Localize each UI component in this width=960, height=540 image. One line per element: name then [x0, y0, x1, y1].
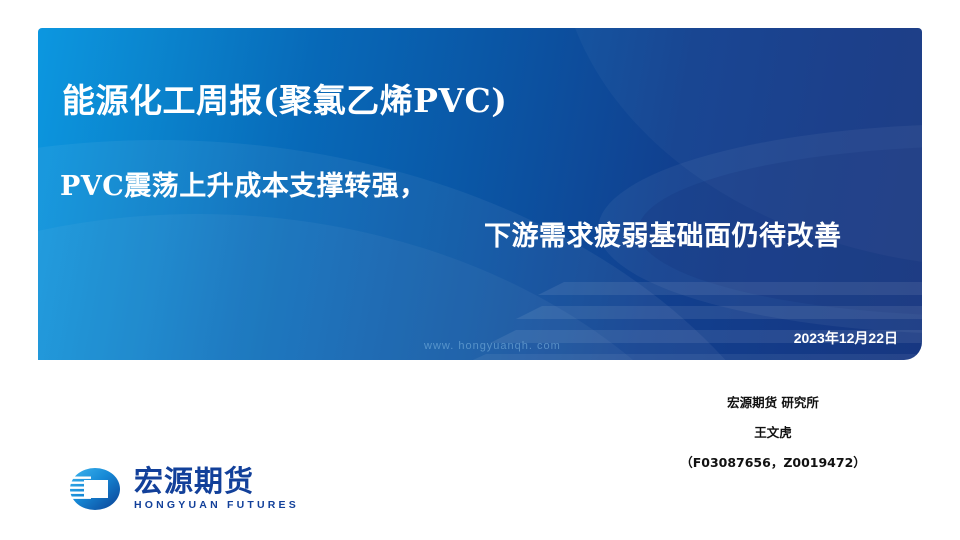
logo-name-en: HONGYUAN FUTURES [134, 499, 299, 511]
credits-block: 宏源期货 研究所 王文虎 （F03087656，Z0019472） [638, 388, 908, 478]
report-subtitle-2: 下游需求疲弱基础面仍待改善 [484, 214, 842, 253]
decorative-stripe-2 [516, 306, 922, 319]
company-logo: 宏源期货 HONGYUAN FUTURES [62, 463, 299, 515]
logo-name-cn: 宏源期货 [134, 467, 299, 497]
credit-author: 王文虎 [638, 418, 908, 448]
decorative-stripe-1 [538, 282, 922, 295]
report-subtitle-1: PVC震荡上升成本支撑转强， [60, 164, 427, 203]
report-date: 2023年12月22日 [794, 328, 898, 348]
hongyuan-ellipse-square-logo-icon [62, 466, 124, 512]
site-watermark: www. hongyuanqh. com [424, 340, 561, 352]
credit-license: （F03087656，Z0019472） [638, 448, 908, 478]
decorative-stripe-4 [462, 354, 922, 360]
report-title: 能源化工周报(聚氯乙烯PVC) [62, 74, 507, 122]
title-banner: 能源化工周报(聚氯乙烯PVC) PVC震荡上升成本支撑转强， 下游需求疲弱基础面… [38, 28, 922, 360]
credit-institution: 宏源期货 研究所 [638, 388, 908, 418]
logo-text-group: 宏源期货 HONGYUAN FUTURES [134, 467, 299, 511]
